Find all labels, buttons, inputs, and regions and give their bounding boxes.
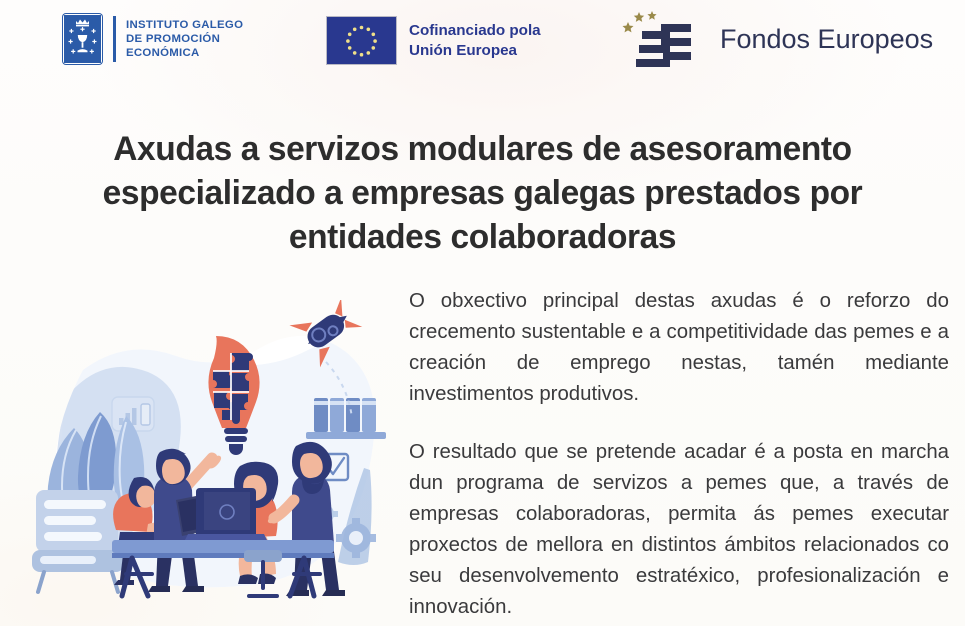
fondos-europeos-logo: Fondos Europeos (622, 8, 933, 70)
paragraph-result: O resultado que se pretende acadar é a p… (409, 437, 949, 623)
logo-divider (113, 16, 116, 62)
igape-logo: INSTITUTO GALEGO DE PROMOCIÓN ECONÓMICA (63, 14, 243, 64)
armchair-icon (32, 490, 124, 592)
european-union-logo: Cofinanciado pola Unión Europea (326, 16, 541, 65)
fondos-europeos-mark-icon (622, 8, 706, 70)
galicia-coat-of-arms-icon (63, 14, 102, 64)
eu-line-2: Unión Europea (409, 41, 541, 61)
paragraph-objective: O obxectivo principal destas axudas é o … (409, 286, 949, 410)
team-brainstorming-illustration (8, 300, 398, 620)
shelf-with-binders-icon (306, 398, 386, 439)
eu-line-1: Cofinanciado pola (409, 21, 541, 41)
fondos-europeos-label: Fondos Europeos (720, 26, 933, 53)
igape-line-3: ECONÓMICA (126, 46, 243, 60)
laptop-icon (184, 488, 268, 542)
igape-logo-text: INSTITUTO GALEGO DE PROMOCIÓN ECONÓMICA (126, 18, 243, 61)
eu-flag-icon (326, 16, 397, 65)
logo-bar: INSTITUTO GALEGO DE PROMOCIÓN ECONÓMICA (0, 0, 965, 88)
igape-line-2: DE PROMOCIÓN (126, 32, 243, 46)
body-text-column: O obxectivo principal destas axudas é o … (409, 286, 949, 623)
igape-line-1: INSTITUTO GALEGO (126, 18, 243, 32)
eu-logo-text: Cofinanciado pola Unión Europea (409, 21, 541, 61)
flyer-page: INSTITUTO GALEGO DE PROMOCIÓN ECONÓMICA (0, 0, 965, 626)
page-title: Axudas a servizos modulares de asesorame… (44, 127, 922, 259)
